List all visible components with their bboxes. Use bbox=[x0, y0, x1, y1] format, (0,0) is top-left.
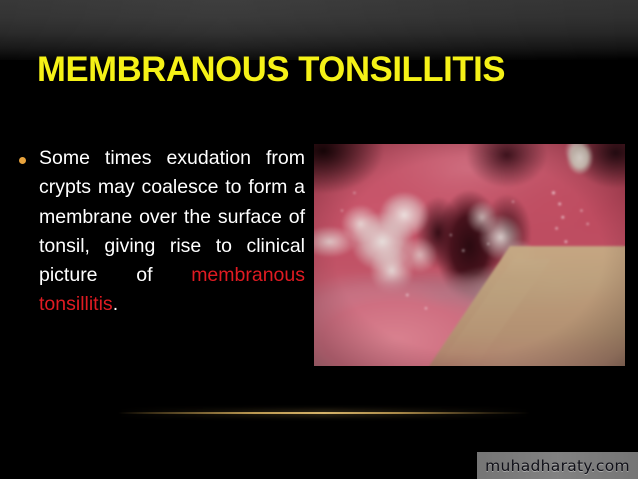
photo-layer-vignette bbox=[314, 144, 625, 366]
page-title: MEMBRANOUS TONSILLITIS bbox=[37, 52, 505, 87]
body-text-normal-end: . bbox=[113, 293, 118, 315]
watermark-text: muhadharaty.com bbox=[485, 457, 630, 475]
presentation-slide: MEMBRANOUS TONSILLITIS Some times exudat… bbox=[0, 0, 638, 479]
watermark-badge: muhadharaty.com bbox=[477, 452, 638, 479]
bullet-list: Some times exudation from crypts may coa… bbox=[14, 144, 306, 320]
bullet-point-icon bbox=[19, 157, 26, 164]
bullet-list-item: Some times exudation from crypts may coa… bbox=[39, 144, 305, 320]
clinical-photo bbox=[314, 144, 625, 366]
gold-divider-line bbox=[118, 412, 530, 414]
